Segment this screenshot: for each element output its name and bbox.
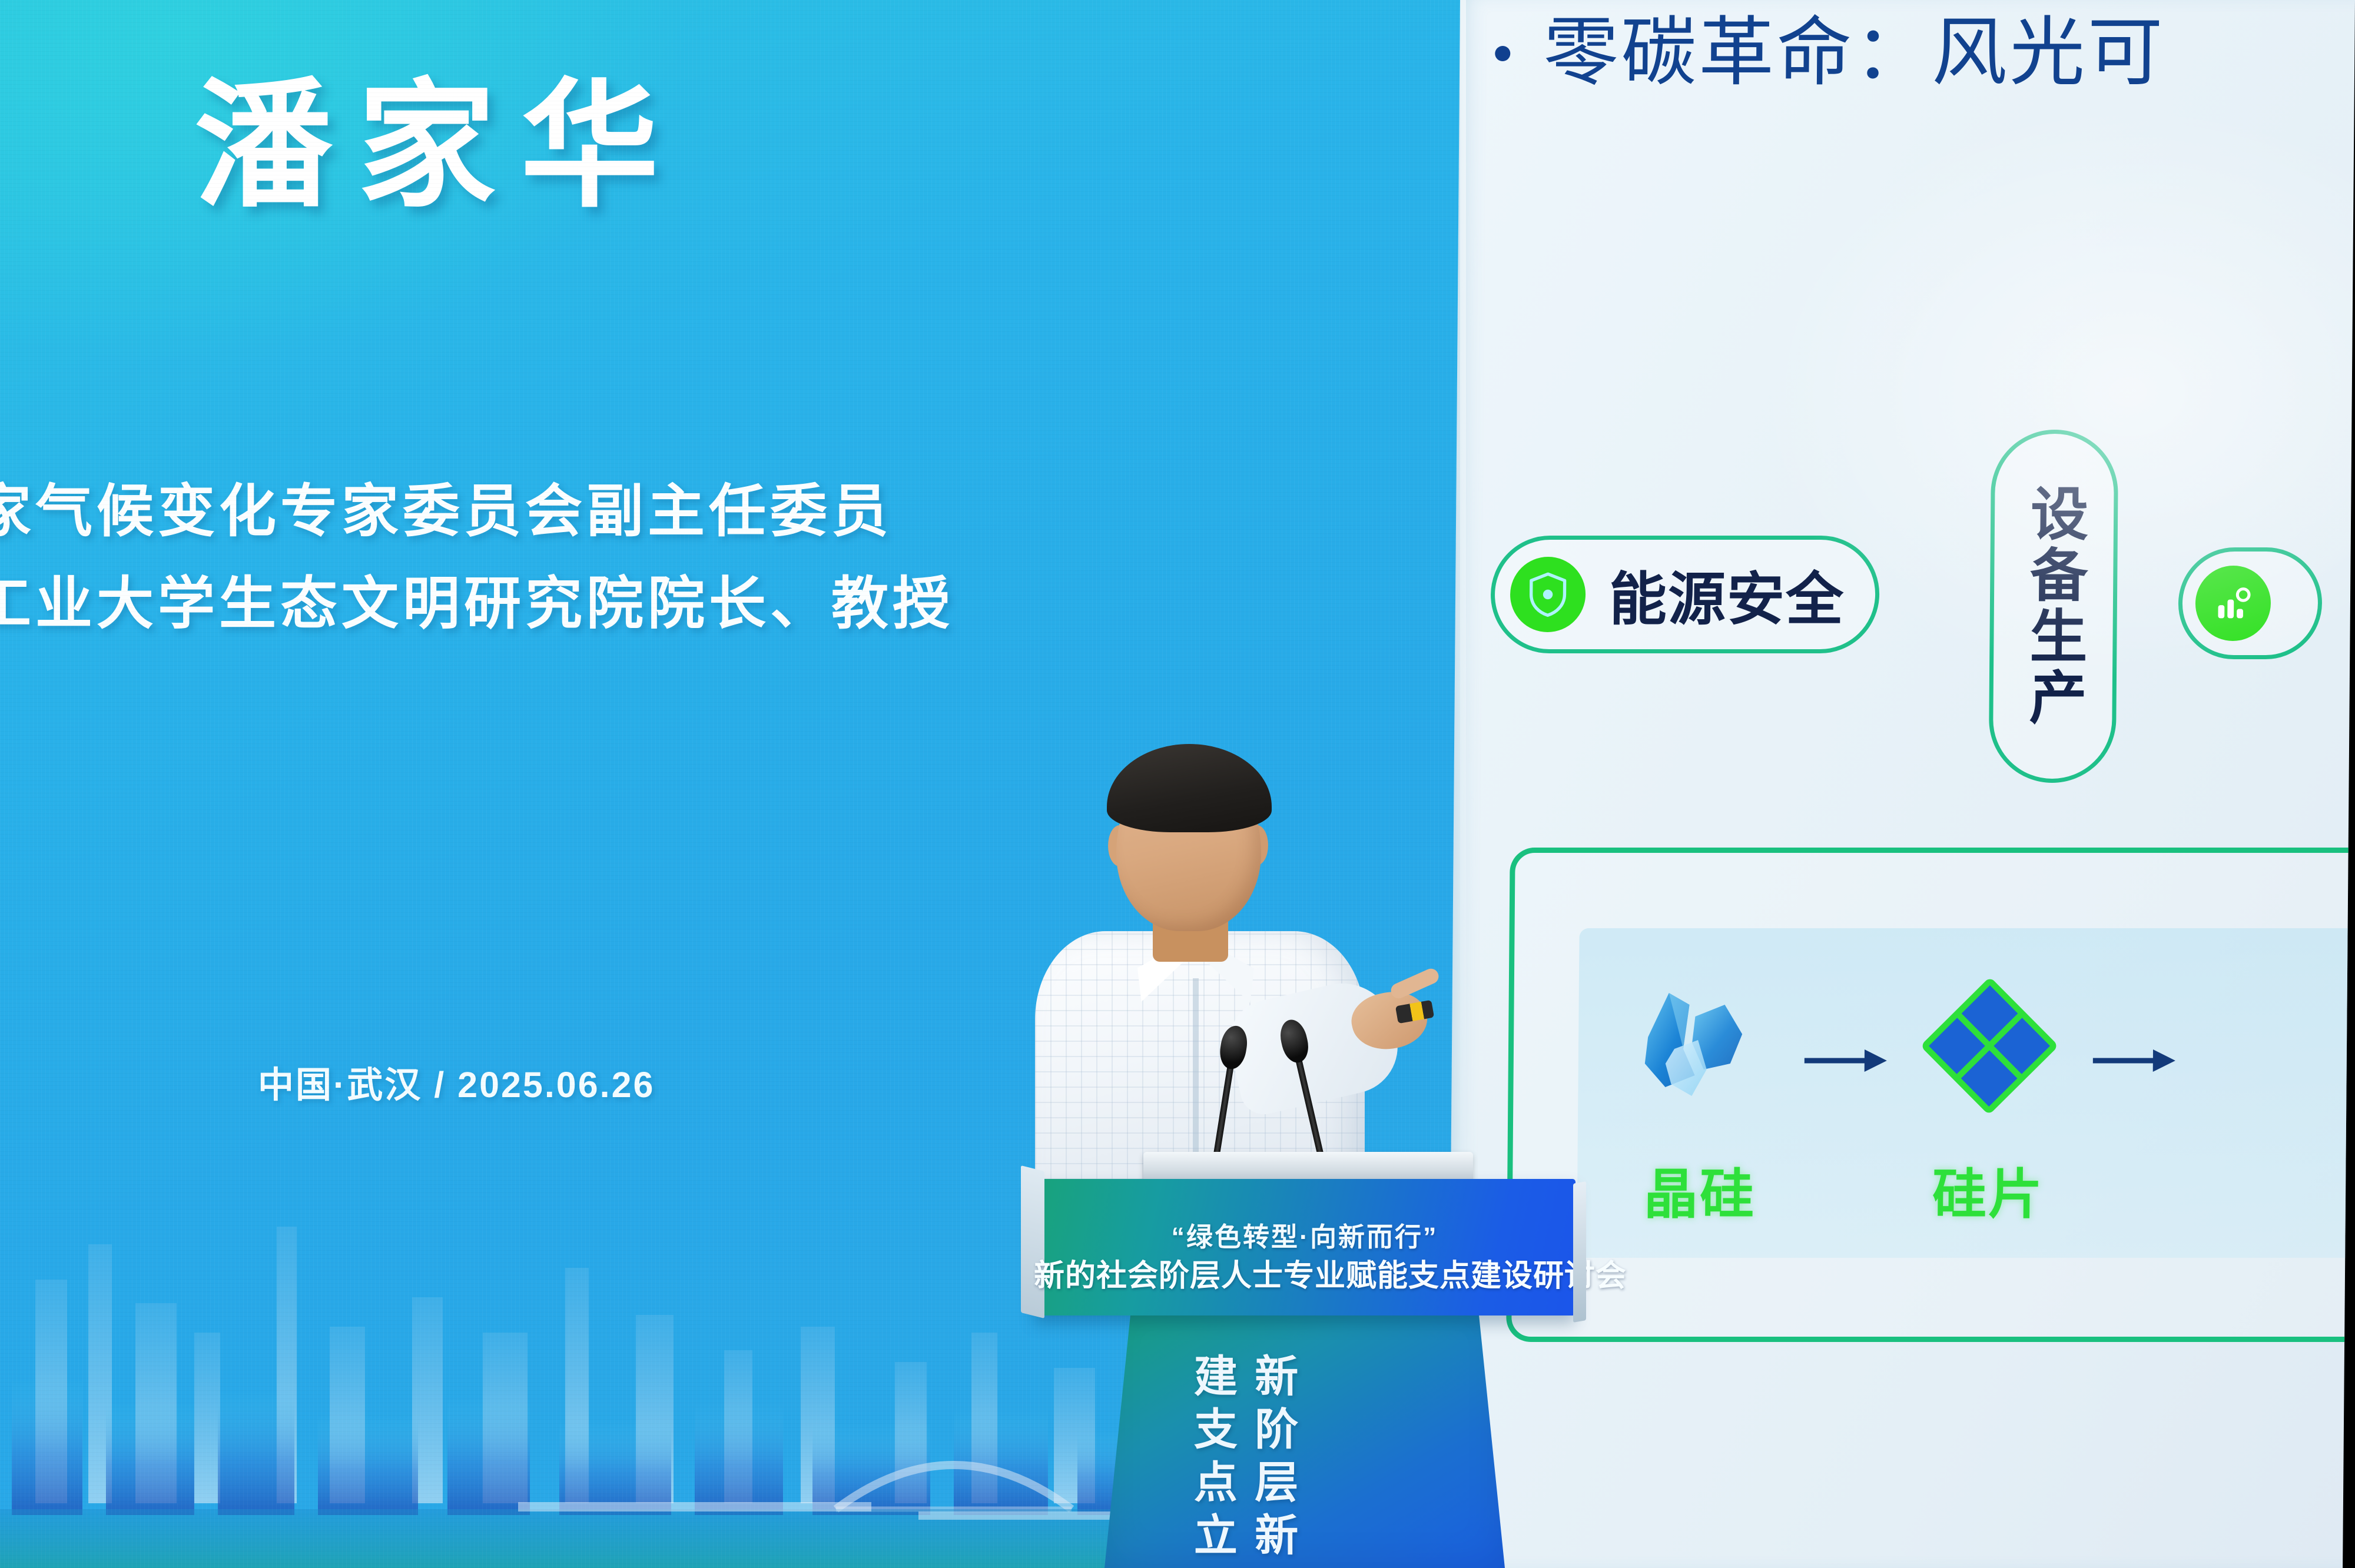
process-flow-inner-panel: 晶硅 <box>1577 928 2355 1258</box>
silicon-chunks-icon <box>1627 958 1775 1134</box>
bar-chart-icon <box>2195 566 2271 641</box>
lectern: 建支点立 新阶层新 “绿色转型·向新而行” 新的社会阶层人士专业赋能支点建设研讨… <box>1034 1179 1575 1568</box>
bullet-dot-icon <box>1495 46 1510 61</box>
pill-third-partial <box>2178 547 2322 659</box>
process-flow-card: 晶硅 <box>1506 848 2355 1342</box>
silicon-wafer-diamond-icon <box>1912 958 2067 1134</box>
process-step-silicon-wafer: 硅片 <box>1900 958 2079 1229</box>
lectern-slogan-column-2: 新阶层新 <box>1249 1353 1296 1565</box>
speaker-name-heading: 潘家华 <box>194 77 684 215</box>
lectern-banner-panel: “绿色转型·向新而行” 新的社会阶层人士专业赋能支点建设研讨会 <box>1034 1179 1575 1315</box>
lectern-banner-line-1: “绿色转型·向新而行” <box>1034 1215 1575 1254</box>
process-arrow-2-icon <box>2078 1044 2190 1078</box>
slide-pill-row: 能源安全 设备生产 <box>1471 453 2355 783</box>
speaker-title-block: 家气候变化专家委员会副主任委员 工业大学生态文明研究院院长、教授 <box>0 465 954 650</box>
process-label-silicon-wafer: 硅片 <box>1932 1151 2045 1229</box>
pill-equipment-production: 设备生产 <box>1989 430 2119 783</box>
lectern-vertical-slogan: 建支点立 新阶层新 <box>1188 1353 1297 1565</box>
projection-screen: 零碳革命：风光可 能源安全 设备生产 <box>1448 0 2355 1568</box>
speaker-hair <box>1107 744 1272 832</box>
process-label-crystalline-silicon: 晶硅 <box>1644 1151 1756 1229</box>
pill-label-energy-security: 能源安全 <box>1609 553 1845 636</box>
process-arrow-1-icon <box>1789 1044 1901 1078</box>
slide-bullet-heading: 零碳革命：风光可 <box>1495 9 2165 96</box>
lectern-slogan-column-1: 建支点立 <box>1188 1353 1236 1565</box>
shield-icon <box>1510 557 1586 632</box>
slide-headline-text: 零碳革命：风光可 <box>1543 9 2165 96</box>
lectern-base <box>1104 1294 1505 1568</box>
pill-energy-security: 能源安全 <box>1490 536 1880 653</box>
conference-stage-photo: 潘家华 家气候变化专家委员会副主任委员 工业大学生态文明研究院院长、教授 中国·… <box>0 0 2355 1568</box>
place-date-label: 中国·武汉 / 2025.06.26 <box>258 1055 655 1108</box>
microphone-left-head <box>1218 1024 1250 1071</box>
pill-label-equipment-production: 设备生产 <box>2023 484 2084 729</box>
speaker-title-line-1: 家气候变化专家委员会副主任委员 <box>0 465 954 557</box>
lectern-banner-line-2: 新的社会阶层人士专业赋能支点建设研讨会 <box>1034 1251 1575 1295</box>
process-step-crystalline-silicon: 晶硅 <box>1611 958 1790 1229</box>
speaker-title-line-2: 工业大学生态文明研究院院长、教授 <box>0 557 954 650</box>
